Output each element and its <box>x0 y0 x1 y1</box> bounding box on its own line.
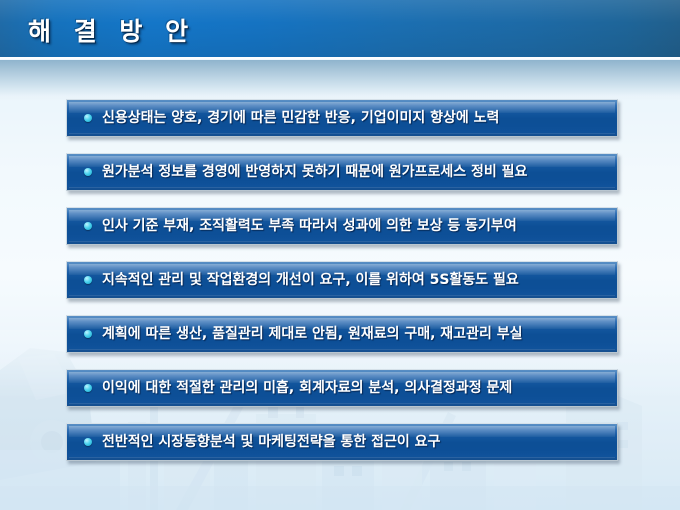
slide-header: 해 결 방 안 <box>0 0 680 57</box>
bullet-bar-label: 지속적인 관리 및 작업환경의 개선이 요구, 이를 위하여 5S활동도 필요 <box>102 261 606 299</box>
bullet-bar-item[interactable]: 신용상태는 양호, 경기에 따른 민감한 반응, 기업이미지 향상에 노력 <box>66 99 618 137</box>
bullet-bar-label: 인사 기준 부재, 조직활력도 부족 따라서 성과에 의한 보상 등 동기부여 <box>102 207 606 245</box>
bullet-bar-label: 계획에 따른 생산, 품질관리 제대로 안됨, 원재료의 구매, 재고관리 부실 <box>102 315 606 353</box>
header-gradient-band <box>0 60 680 100</box>
bullet-bar-item[interactable]: 계획에 따른 생산, 품질관리 제대로 안됨, 원재료의 구매, 재고관리 부실 <box>66 315 618 353</box>
bullet-bar-label: 이익에 대한 적절한 관리의 미흡, 회계자료의 분석, 의사결정과정 문제 <box>102 369 606 407</box>
bullet-dot-icon <box>84 222 92 230</box>
bullet-dot-icon <box>84 276 92 284</box>
page-title: 해 결 방 안 <box>28 12 195 48</box>
bullet-dot-icon <box>84 438 92 446</box>
bullet-bar-item[interactable]: 원가분석 정보를 경영에 반영하지 못하기 때문에 원가프로세스 정비 필요 <box>66 153 618 191</box>
bullet-bar-item[interactable]: 이익에 대한 적절한 관리의 미흡, 회계자료의 분석, 의사결정과정 문제 <box>66 369 618 407</box>
bullet-bar-list: 신용상태는 양호, 경기에 따른 민감한 반응, 기업이미지 향상에 노력 원가… <box>66 99 618 477</box>
bullet-bar-item[interactable]: 인사 기준 부재, 조직활력도 부족 따라서 성과에 의한 보상 등 동기부여 <box>66 207 618 245</box>
bullet-dot-icon <box>84 330 92 338</box>
bullet-bar-label: 신용상태는 양호, 경기에 따른 민감한 반응, 기업이미지 향상에 노력 <box>102 99 606 137</box>
bullet-dot-icon <box>84 384 92 392</box>
presentation-slide: 해 결 방 안 신용상태는 양호, 경기에 따른 민감한 반응, 기업이미지 향… <box>0 0 680 510</box>
bullet-bar-item[interactable]: 지속적인 관리 및 작업환경의 개선이 요구, 이를 위하여 5S활동도 필요 <box>66 261 618 299</box>
bullet-bar-label: 원가분석 정보를 경영에 반영하지 못하기 때문에 원가프로세스 정비 필요 <box>102 153 606 191</box>
bullet-dot-icon <box>84 168 92 176</box>
bullet-bar-item[interactable]: 전반적인 시장동향분석 및 마케팅전략올 통한 접근이 요구 <box>66 423 618 461</box>
bullet-bar-label: 전반적인 시장동향분석 및 마케팅전략올 통한 접근이 요구 <box>102 423 606 461</box>
bullet-dot-icon <box>84 114 92 122</box>
